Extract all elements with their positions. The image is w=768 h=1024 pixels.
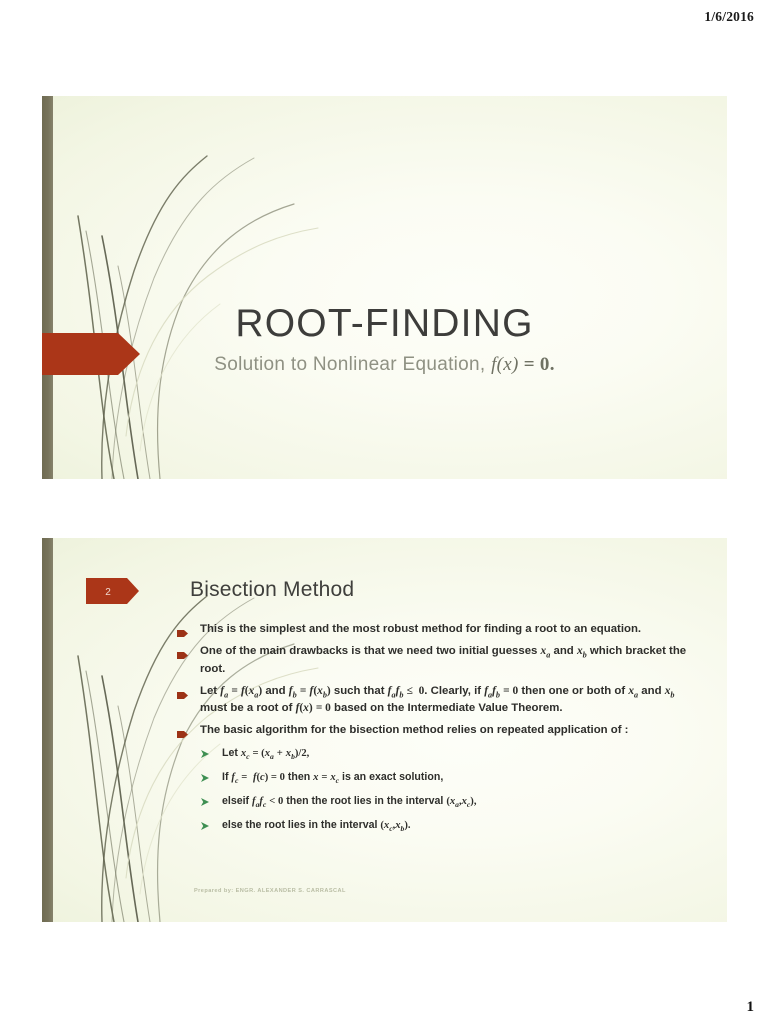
slide-number-text: 2 [105, 587, 111, 598]
bullet-list: This is the simplest and the most robust… [176, 622, 697, 843]
bullet-item: The basic algorithm for the bisection me… [176, 723, 697, 738]
page-number: 1 [747, 999, 755, 1016]
slide-thumbnail-1[interactable]: ROOT-FINDING Solution to Nonlinear Equat… [42, 96, 727, 479]
deck-subtitle: Solution to Nonlinear Equation, f(x) = 0… [42, 354, 727, 376]
bullet-text: One of the main drawbacks is that we nee… [200, 645, 686, 674]
sub-bullet-text: Let xc = (xa + xb)/2, [222, 747, 309, 759]
title-block: ROOT-FINDING Solution to Nonlinear Equat… [42, 304, 727, 376]
deck-subtitle-math-eq: = 0. [519, 354, 555, 375]
grass-blades-decoration [42, 96, 372, 479]
chevron-right-bullet-icon [200, 749, 210, 759]
arrow-bullet-icon [177, 649, 188, 656]
arrow-bullet-icon [177, 689, 188, 696]
olive-vertical-bar [42, 96, 53, 479]
arrow-bullet-icon [177, 627, 188, 634]
chevron-right-bullet-icon [200, 821, 210, 831]
chevron-right-bullet-icon [200, 797, 210, 807]
prepared-by-footer: Prepared by: ENGR. ALEXANDER S. CARRASCA… [194, 888, 346, 894]
sub-bullet-item: elseif fafc < 0 then the root lies in th… [176, 795, 697, 810]
deck-subtitle-prefix: Solution to Nonlinear Equation, [214, 354, 491, 375]
bullet-text: This is the simplest and the most robust… [200, 623, 641, 635]
sub-bullet-list: Let xc = (xa + xb)/2, If fc = f(c) = 0 t… [176, 747, 697, 834]
slide-title: Bisection Method [190, 578, 354, 602]
bullet-text: The basic algorithm for the bisection me… [200, 724, 628, 736]
bullet-text: Let fa = f(xa) and fb = f(xb) such that … [200, 685, 675, 714]
sub-bullet-item: else the root lies in the interval (xc,x… [176, 819, 697, 834]
bullet-item: Let fa = f(xa) and fb = f(xb) such that … [176, 684, 697, 717]
sub-bullet-item: If fc = f(c) = 0 then x = xc is an exact… [176, 771, 697, 786]
sub-bullet-text: If fc = f(c) = 0 then x = xc is an exact… [222, 771, 443, 783]
deck-title: ROOT-FINDING [42, 304, 727, 345]
bullet-item: This is the simplest and the most robust… [176, 622, 697, 637]
chevron-right-bullet-icon [200, 773, 210, 783]
sub-bullet-item: Let xc = (xa + xb)/2, [176, 747, 697, 762]
slide-number-badge: 2 [86, 578, 140, 609]
sub-bullet-text: elseif fafc < 0 then the root lies in th… [222, 795, 476, 807]
arrow-bullet-icon [177, 728, 188, 735]
page-date: 1/6/2016 [704, 9, 754, 25]
slide-thumbnail-2[interactable]: 2 Bisection Method This is the simplest … [42, 538, 727, 922]
olive-vertical-bar [42, 538, 53, 922]
bullet-item: One of the main drawbacks is that we nee… [176, 644, 697, 677]
sub-bullet-text: else the root lies in the interval (xc,x… [222, 819, 411, 831]
deck-subtitle-math-arg: (x) [497, 354, 519, 375]
